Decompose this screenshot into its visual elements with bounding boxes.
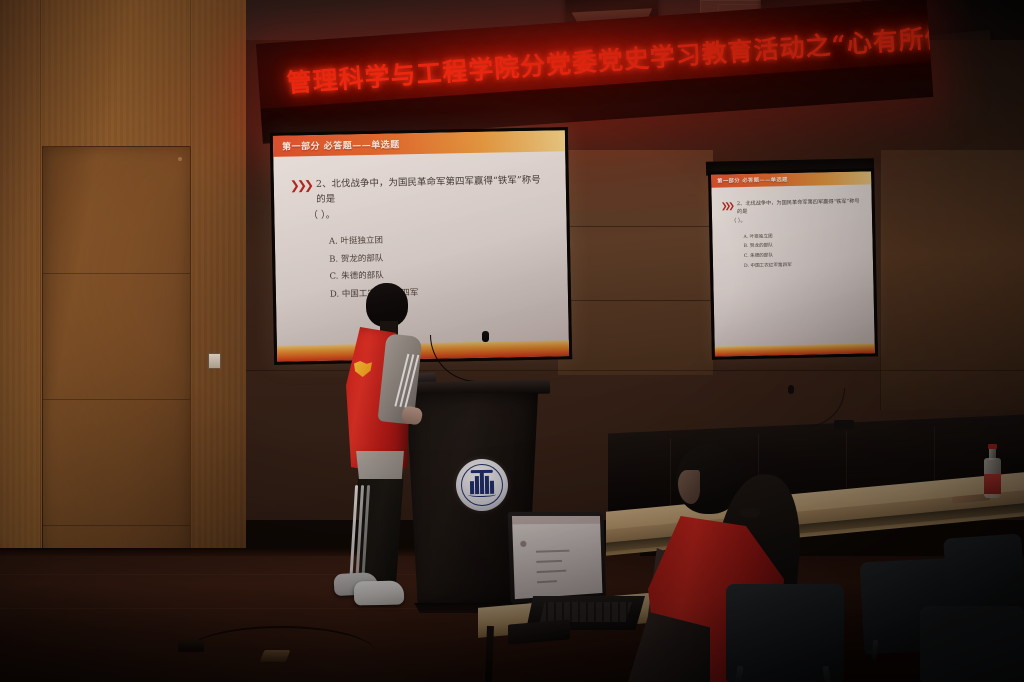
cable-plug xyxy=(178,640,204,652)
contestant-shoe xyxy=(354,581,404,606)
option-d-side: D. 中国工农红军第四军 xyxy=(744,259,864,271)
table-microphone[interactable] xyxy=(790,388,848,430)
slide-body-side: ❯❯❯ 2、北伐战争中，为国民革命军第四军赢得“铁军”称号的是 （ ）。 A. … xyxy=(711,184,875,356)
question-row: ❯❯❯ 2、北伐战争中，为国民革命军第四军赢得“铁军”称号的是 xyxy=(290,174,551,208)
right-wall-panel xyxy=(880,150,1024,410)
slide-header-text: 第一部分 必答题——单选题 xyxy=(273,137,400,152)
bottle-cap[interactable] xyxy=(988,444,997,449)
question-row-side: ❯❯❯ 2、北伐战争中，为国民革命军第四军赢得“铁军”称号的是 xyxy=(721,199,863,218)
light-switch[interactable] xyxy=(208,353,221,369)
laptop-keyboard[interactable] xyxy=(540,602,632,622)
water-bottle[interactable] xyxy=(984,446,1001,498)
question-text: 2、北伐战争中，为国民革命军第四军赢得“铁军”称号的是 xyxy=(316,174,550,208)
conference-chair[interactable] xyxy=(726,584,844,682)
vest-logo-icon xyxy=(354,361,372,377)
hall-door[interactable] xyxy=(42,146,191,592)
presentation-slide-mirror: 第一部分 必答题——单选题 ❯❯❯ 2、北伐战争中，为国民革命军第四军赢得“铁军… xyxy=(711,171,875,356)
operator-hair-tie xyxy=(740,508,760,517)
left-wood-wall xyxy=(0,0,246,600)
wall-between-screens xyxy=(558,150,713,375)
presentation-laptop[interactable] xyxy=(510,512,645,632)
lecture-hall-scene: 管理科学与工程学院分党委党史学习教育活动之“心有所信，方能行远”知识竞赛 第一部… xyxy=(0,0,1024,682)
projection-screen-side: 第一部分 必答题——单选题 ❯❯❯ 2、北伐战争中，为国民革命军第四军赢得“铁军… xyxy=(708,168,878,359)
conference-chair[interactable] xyxy=(920,606,1024,682)
laptop-lid xyxy=(508,512,607,604)
podium-microphone[interactable] xyxy=(426,335,492,387)
option-list-side: A. 叶挺独立团 B. 贺龙的部队 C. 朱德的部队 D. 中国工农红军第四军 xyxy=(743,230,864,271)
chevron-right-icon: ❯❯❯ xyxy=(290,179,311,191)
chevron-right-icon-side: ❯❯❯ xyxy=(721,202,732,210)
standing-contestant xyxy=(330,283,426,613)
slide-footer-bar-side xyxy=(715,343,875,356)
question-text-side: 2、北伐战争中，为国民革命军第四军赢得“铁军”称号的是 xyxy=(737,199,863,217)
bottle-label xyxy=(984,474,1001,494)
door-knob-icon[interactable] xyxy=(178,157,182,161)
slide-header-text-side: 第一部分 必答题——单选题 xyxy=(711,176,788,185)
laptop-screen[interactable] xyxy=(512,516,603,599)
laptop-screen-icon xyxy=(520,541,526,547)
wall-seam xyxy=(880,150,881,410)
